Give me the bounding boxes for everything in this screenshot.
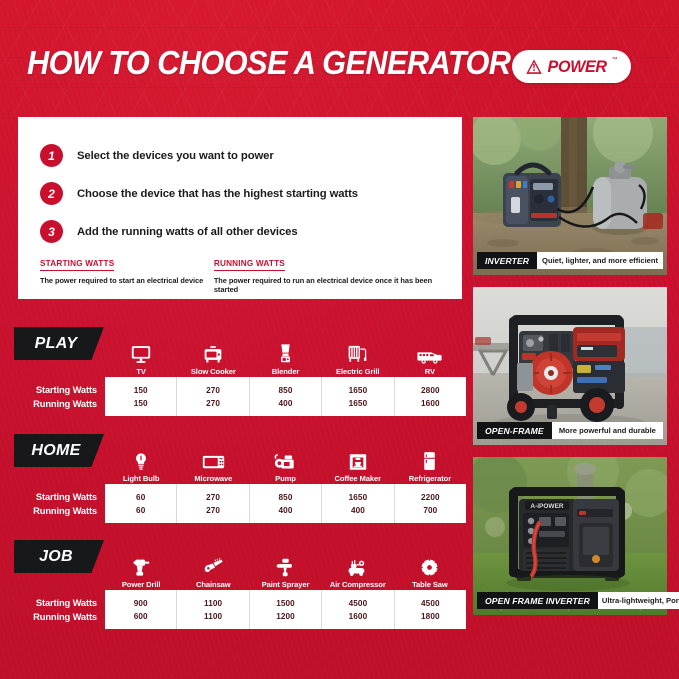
watts-cell: 60 60 <box>105 484 177 523</box>
power-drill-icon <box>132 550 150 577</box>
device-column: Chainsaw <box>177 540 249 590</box>
step-item: 1 Select the devices you want to power <box>40 144 274 167</box>
running-watts-value: 400 <box>279 399 293 408</box>
header: HOW TO CHOOSE A GENERATOR POWER ™ <box>0 0 679 112</box>
watts-cell: 1500 1200 <box>250 590 322 629</box>
watts-cell: 4500 1800 <box>395 590 466 629</box>
refrigerator-icon <box>423 444 436 471</box>
watts-cell: 1650 1650 <box>322 377 394 416</box>
starting-watts-value: 2200 <box>421 493 440 502</box>
running-watts-value: 700 <box>423 506 437 515</box>
definitions: STARTING WATTS The power required to sta… <box>40 253 450 294</box>
blender-icon <box>278 337 293 364</box>
watts-cell: 2800 1600 <box>395 377 466 416</box>
watts-cell: 270 270 <box>177 484 249 523</box>
watts-grid: 900 600 1100 1100 1500 1200 4500 1600 45… <box>105 590 466 629</box>
watts-cell: 850 400 <box>250 484 322 523</box>
logo-wordmark: POWER <box>548 57 607 77</box>
running-watts-value: 1600 <box>349 612 368 621</box>
definition-starting-watts: STARTING WATTS The power required to sta… <box>40 253 214 294</box>
steps-panel: 1 Select the devices you want to power 2… <box>18 117 462 299</box>
chainsaw-icon <box>203 550 224 577</box>
category-block-home: HOME Light Bulb Microwave Pump <box>14 434 466 523</box>
watts-row-labels: Starting Watts Running Watts <box>14 484 105 523</box>
definition-title: RUNNING WATTS <box>214 259 285 271</box>
device-label: Coffee Maker <box>334 474 381 483</box>
light-bulb-icon <box>134 444 148 471</box>
photo-description: Ultra-lightweight, Portable <box>598 592 679 609</box>
device-column: TV <box>105 327 177 377</box>
photo-description: Quiet, lighter, and more efficient <box>537 252 663 269</box>
starting-watts-value: 270 <box>206 386 220 395</box>
device-columns: TV Slow Cooker Blender Electric Grill <box>105 327 466 377</box>
category-name: JOB <box>39 548 73 566</box>
watts-row-labels: Starting Watts Running Watts <box>14 377 105 416</box>
category-banner-home: HOME <box>14 434 104 467</box>
category-header: PLAY TV Slow Cooker Blender <box>14 327 466 377</box>
starting-watts-value: 1650 <box>349 386 368 395</box>
photo-tag: OPEN FRAME INVERTER <box>477 592 598 609</box>
device-column: Slow Cooker <box>177 327 249 377</box>
device-label: Light Bulb <box>123 474 160 483</box>
device-label: Paint Sprayer <box>262 580 310 589</box>
watts-table: Starting Watts Running Watts 60 60 270 2… <box>14 484 466 523</box>
device-column: Refrigerator <box>394 434 466 484</box>
running-watts-label: Running Watts <box>33 611 97 622</box>
device-column: Light Bulb <box>105 434 177 484</box>
svg-text:A-iPOWER: A-iPOWER <box>530 503 564 510</box>
definition-text: The power required to start an electrica… <box>40 276 214 285</box>
starting-watts-value: 270 <box>206 493 220 502</box>
running-watts-value: 150 <box>134 399 148 408</box>
device-label: Pump <box>275 474 296 483</box>
category-block-job: JOB Power Drill Chainsaw Paint Sprayer <box>14 540 466 629</box>
photo-caption: INVERTER Quiet, lighter, and more effici… <box>477 252 663 269</box>
definition-text: The power required to run an electrical … <box>214 276 450 294</box>
watts-cell: 850 400 <box>250 377 322 416</box>
device-column: Power Drill <box>105 540 177 590</box>
starting-watts-value: 1100 <box>204 599 222 608</box>
step-number-badge: 2 <box>40 182 63 205</box>
device-label: RV <box>425 367 435 376</box>
running-watts-value: 400 <box>279 506 293 515</box>
device-column: Table Saw <box>394 540 466 590</box>
watts-cell: 270 270 <box>177 377 249 416</box>
table-saw-icon <box>420 550 439 577</box>
watts-cell: 900 600 <box>105 590 177 629</box>
starting-watts-value: 850 <box>279 493 293 502</box>
step-text: Add the running watts of all other devic… <box>77 226 298 238</box>
device-label: Air Compressor <box>330 580 386 589</box>
category-banner-job: JOB <box>14 540 104 573</box>
category-name: HOME <box>31 442 80 460</box>
rv-icon <box>417 337 442 364</box>
definition-title: STARTING WATTS <box>40 259 114 271</box>
device-column: Air Compressor <box>322 540 394 590</box>
step-item: 2 Choose the device that has the highest… <box>40 182 358 205</box>
category-header: HOME Light Bulb Microwave Pump <box>14 434 466 484</box>
running-watts-value: 270 <box>206 399 220 408</box>
starting-watts-value: 1500 <box>276 599 295 608</box>
running-watts-value: 400 <box>351 506 365 515</box>
photo-caption: OPEN-FRAME More powerful and durable <box>477 422 663 439</box>
air-compressor-icon <box>347 550 369 577</box>
device-label: Refrigerator <box>409 474 451 483</box>
running-watts-value: 600 <box>134 612 148 621</box>
watts-grid: 60 60 270 270 850 400 1650 400 2200 700 <box>105 484 466 523</box>
device-label: Power Drill <box>122 580 161 589</box>
device-column: Electric Grill <box>322 327 394 377</box>
category-name: PLAY <box>35 335 78 353</box>
apower-triangle-icon <box>525 58 543 76</box>
watts-table: Starting Watts Running Watts 900 600 110… <box>14 590 466 629</box>
category-header: JOB Power Drill Chainsaw Paint Sprayer <box>14 540 466 590</box>
watts-row-labels: Starting Watts Running Watts <box>14 590 105 629</box>
device-label: Microwave <box>194 474 232 483</box>
device-column: Microwave <box>177 434 249 484</box>
apower-logo: POWER ™ <box>512 50 631 83</box>
device-column: RV <box>394 327 466 377</box>
running-watts-value: 270 <box>206 506 220 515</box>
step-text: Choose the device that has the highest s… <box>77 188 358 200</box>
photo-card-inverter: INVERTER Quiet, lighter, and more effici… <box>473 117 667 275</box>
device-label: Blender <box>272 367 300 376</box>
pump-icon <box>274 444 297 471</box>
starting-watts-value: 2800 <box>421 386 440 395</box>
watts-grid: 150 150 270 270 850 400 1650 1650 2800 1… <box>105 377 466 416</box>
device-label: Slow Cooker <box>191 367 236 376</box>
device-column: Coffee Maker <box>322 434 394 484</box>
watts-cell: 1650 400 <box>322 484 394 523</box>
running-watts-value: 1100 <box>204 612 222 621</box>
step-text: Select the devices you want to power <box>77 150 274 162</box>
definition-running-watts: RUNNING WATTS The power required to run … <box>214 253 450 294</box>
photo-tag: OPEN-FRAME <box>477 422 552 439</box>
device-columns: Light Bulb Microwave Pump Coffee Maker <box>105 434 466 484</box>
starting-watts-value: 900 <box>134 599 148 608</box>
running-watts-label: Running Watts <box>33 505 97 516</box>
photo-card-open-frame: OPEN-FRAME More powerful and durable <box>473 287 667 445</box>
logo-trademark: ™ <box>612 57 618 63</box>
device-column: Paint Sprayer <box>249 540 321 590</box>
slow-cooker-icon <box>203 337 223 364</box>
running-watts-value: 1200 <box>276 612 295 621</box>
starting-watts-value: 150 <box>134 386 148 395</box>
paint-sprayer-icon <box>276 550 295 577</box>
category-banner-play: PLAY <box>14 327 104 360</box>
starting-watts-label: Starting Watts <box>36 384 97 395</box>
step-number-badge: 3 <box>40 220 63 243</box>
microwave-icon <box>202 444 225 471</box>
tv-icon <box>131 337 151 364</box>
running-watts-value: 1800 <box>421 612 440 621</box>
category-block-play: PLAY TV Slow Cooker Blender <box>14 327 466 416</box>
photo-description: More powerful and durable <box>552 422 663 439</box>
starting-watts-label: Starting Watts <box>36 491 97 502</box>
page-title: HOW TO CHOOSE A GENERATOR <box>27 44 510 82</box>
device-column: Pump <box>249 434 321 484</box>
photo-card-open-frame-inverter: A-iPOWER <box>473 457 667 615</box>
starting-watts-value: 1650 <box>349 493 368 502</box>
step-item: 3 Add the running watts of all other dev… <box>40 220 298 243</box>
coffee-maker-icon <box>348 444 368 471</box>
device-columns: Power Drill Chainsaw Paint Sprayer Air C… <box>105 540 466 590</box>
running-watts-value: 1600 <box>421 399 440 408</box>
watts-cell: 1100 1100 <box>177 590 249 629</box>
photo-tag: INVERTER <box>477 252 537 269</box>
starting-watts-value: 4500 <box>349 599 368 608</box>
watts-table: Starting Watts Running Watts 150 150 270… <box>14 377 466 416</box>
device-label: Table Saw <box>412 580 448 589</box>
running-watts-value: 60 <box>136 506 145 515</box>
step-number-badge: 1 <box>40 144 63 167</box>
starting-watts-value: 60 <box>136 493 145 502</box>
running-watts-label: Running Watts <box>33 398 97 409</box>
device-label: Chainsaw <box>196 580 231 589</box>
watts-cell: 2200 700 <box>395 484 466 523</box>
starting-watts-value: 4500 <box>421 599 440 608</box>
device-label: TV <box>136 367 146 376</box>
photo-caption: OPEN FRAME INVERTER Ultra-lightweight, P… <box>477 592 663 609</box>
watts-cell: 4500 1600 <box>322 590 394 629</box>
starting-watts-label: Starting Watts <box>36 597 97 608</box>
watts-cell: 150 150 <box>105 377 177 416</box>
starting-watts-value: 850 <box>279 386 293 395</box>
device-column: Blender <box>249 327 321 377</box>
running-watts-value: 1650 <box>349 399 368 408</box>
electric-grill-icon <box>347 337 368 364</box>
device-label: Electric Grill <box>336 367 379 376</box>
